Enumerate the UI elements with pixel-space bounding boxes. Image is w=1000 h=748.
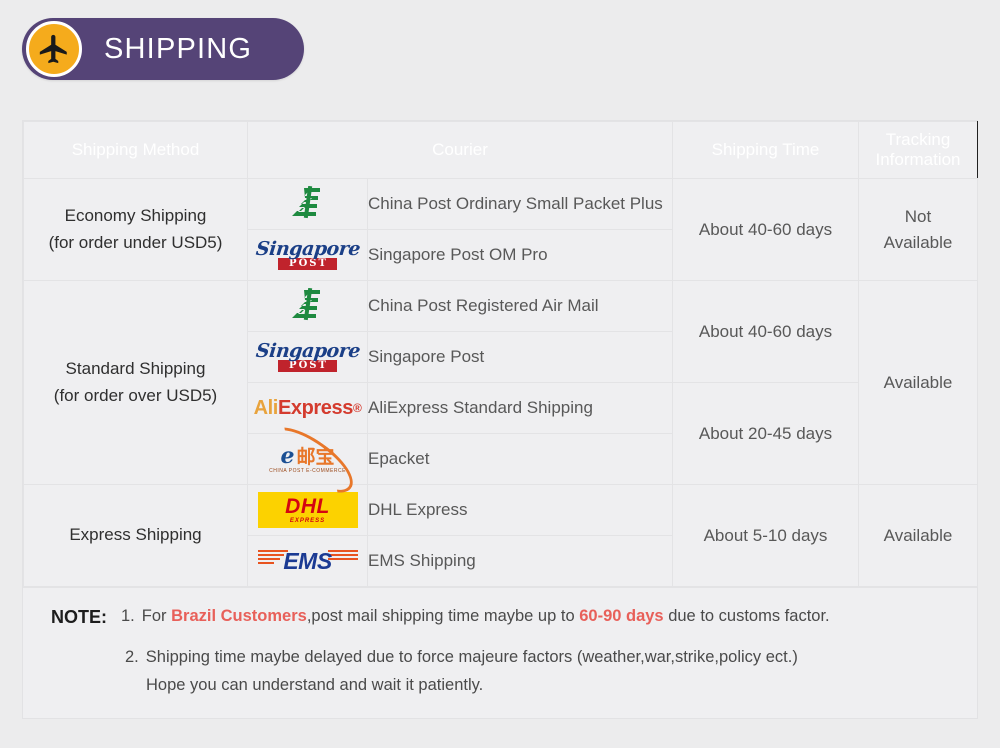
- method-cell-express: Express Shipping: [24, 485, 248, 587]
- singapore-post-word: Singapore: [255, 240, 361, 259]
- note-1-a: For: [142, 607, 171, 625]
- shipping-time-cell: About 40-60 days: [673, 179, 859, 281]
- courier-logo-cell: Singapore POST: [248, 332, 368, 383]
- epacket-wordmark: e 邮宝: [280, 445, 334, 467]
- courier-name: Singapore Post: [368, 332, 673, 383]
- ems-speedlines-right: [328, 550, 358, 560]
- shipping-banner: SHIPPING: [22, 18, 304, 80]
- singapore-post-logo: Singapore POST: [256, 337, 360, 377]
- header-courier: Courier: [248, 122, 673, 179]
- courier-logo-cell: AliExpress®: [248, 383, 368, 434]
- ems-wordmark: EMS: [283, 548, 331, 575]
- aliexpress-tm: ®: [353, 401, 361, 415]
- aliexpress-part2: Express: [278, 397, 353, 420]
- tracking-line1: Not: [859, 204, 977, 230]
- courier-name: China Post Registered Air Mail: [368, 281, 673, 332]
- tracking-cell-standard: Available: [859, 281, 978, 485]
- banner-title: SHIPPING: [104, 33, 252, 66]
- note-item-2-line1: Shipping time maybe delayed due to force…: [146, 645, 798, 670]
- aliexpress-logo: AliExpress®: [256, 388, 360, 428]
- note-1-highlight-brazil: Brazil Customers: [171, 607, 307, 625]
- courier-name: AliExpress Standard Shipping: [368, 383, 673, 434]
- note-item-2-continued: Hope you can understand and wait it pati…: [51, 673, 957, 698]
- note-label: NOTE:: [51, 604, 107, 631]
- shipping-table: Shipping Method Courier Shipping Time Tr…: [23, 121, 978, 587]
- courier-logo-cell: EMS: [248, 536, 368, 587]
- tracking-cell-economy: Not Available: [859, 179, 978, 281]
- table-header-row: Shipping Method Courier Shipping Time Tr…: [24, 122, 978, 179]
- courier-logo-cell: [248, 179, 368, 230]
- note-item-2: 2. Shipping time maybe delayed due to fo…: [51, 645, 957, 670]
- table-row: Economy Shipping (for order under USD5) …: [24, 179, 978, 230]
- table-row: Standard Shipping (for order over USD5) …: [24, 281, 978, 332]
- epacket-logo: e 邮宝 CHINA POST E-COMMERCE: [256, 439, 360, 479]
- note-section: NOTE: 1. For Brazil Customers,post mail …: [23, 587, 977, 718]
- header-tracking-information: Tracking Information: [859, 122, 978, 179]
- note-item-1-text: For Brazil Customers,post mail shipping …: [142, 604, 830, 631]
- method-cell-economy: Economy Shipping (for order under USD5): [24, 179, 248, 281]
- method-label-line1: Economy Shipping: [24, 203, 247, 229]
- method-label-line1: Express Shipping: [24, 522, 247, 548]
- courier-logo-cell: e 邮宝 CHINA POST E-COMMERCE: [248, 434, 368, 485]
- method-label-line2: (for order under USD5): [24, 230, 247, 256]
- epacket-subtext: CHINA POST E-COMMERCE: [269, 469, 346, 474]
- singapore-post-logo: Singapore POST: [256, 235, 360, 275]
- courier-name: China Post Ordinary Small Packet Plus: [368, 179, 673, 230]
- note-1-c: due to customs factor.: [664, 607, 830, 625]
- courier-logo-cell: [248, 281, 368, 332]
- ems-logo: EMS: [256, 541, 360, 581]
- note-item-1: NOTE: 1. For Brazil Customers,post mail …: [51, 604, 957, 631]
- note-item-1-number: 1.: [121, 604, 135, 631]
- china-post-logo: [256, 183, 360, 223]
- shipping-time-cell: About 5-10 days: [673, 485, 859, 587]
- shipping-table-container: Shipping Method Courier Shipping Time Tr…: [22, 120, 978, 719]
- method-cell-standard: Standard Shipping (for order over USD5): [24, 281, 248, 485]
- airplane-icon: [26, 21, 82, 77]
- epacket-e: e: [280, 445, 294, 467]
- note-1-b: ,post mail shipping time maybe up to: [307, 607, 579, 625]
- dhl-logo: DHL EXPRESS: [258, 492, 358, 528]
- courier-name: Singapore Post OM Pro: [368, 230, 673, 281]
- courier-name: EMS Shipping: [368, 536, 673, 587]
- tracking-line2: Available: [859, 230, 977, 256]
- dhl-wordmark: DHL: [285, 496, 330, 517]
- aliexpress-part1: Ali: [254, 397, 278, 420]
- note-item-2-line2: Hope you can understand and wait it pati…: [146, 673, 483, 698]
- epacket-cn: 邮宝: [296, 448, 334, 467]
- courier-name: DHL Express: [368, 485, 673, 536]
- china-post-logo: [256, 285, 360, 325]
- courier-name: Epacket: [368, 434, 673, 485]
- header-shipping-time: Shipping Time: [673, 122, 859, 179]
- method-label-line2: (for order over USD5): [24, 383, 247, 409]
- note-1-highlight-days: 60-90 days: [579, 607, 663, 625]
- singapore-post-word: Singapore: [255, 342, 361, 361]
- table-row: Express Shipping DHL EXPRESS DHL Express…: [24, 485, 978, 536]
- tracking-cell-express: Available: [859, 485, 978, 587]
- courier-logo-cell: Singapore POST: [248, 230, 368, 281]
- header-shipping-method: Shipping Method: [24, 122, 248, 179]
- shipping-time-cell: About 20-45 days: [673, 383, 859, 485]
- method-label-line1: Standard Shipping: [24, 356, 247, 382]
- note-item-2-number: 2.: [125, 645, 139, 670]
- courier-logo-cell: DHL EXPRESS: [248, 485, 368, 536]
- dhl-subtext: EXPRESS: [290, 518, 325, 524]
- shipping-time-cell: About 40-60 days: [673, 281, 859, 383]
